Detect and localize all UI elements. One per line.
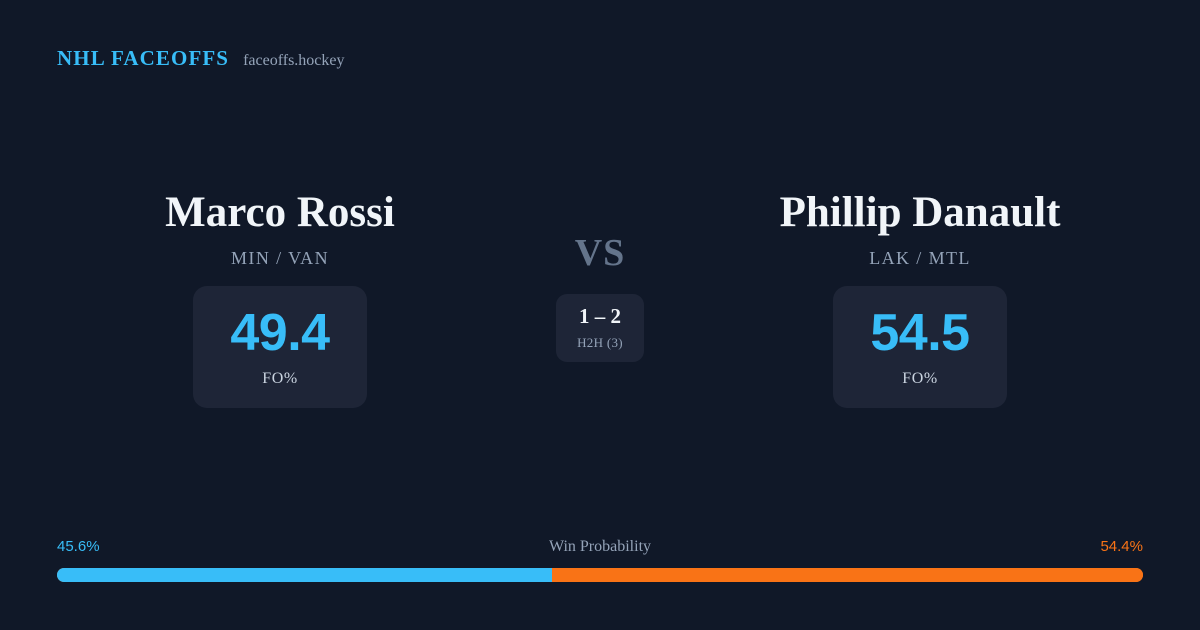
brand-header: NHL FACEOFFS faceoffs.hockey [57, 46, 345, 71]
win-probability-header: 45.6% Win Probability 54.4% [57, 538, 1143, 558]
player-teams-left: MIN / VAN [231, 248, 329, 269]
win-probability-right-value: 54.4% [1100, 538, 1143, 555]
player-card-right: Phillip Danault LAK / MTL 54.5 FO% [690, 190, 1150, 408]
head-to-head-label: H2H (3) [577, 335, 623, 351]
player-name-left: Marco Rossi [165, 190, 395, 236]
stat-value-right: 54.5 [870, 307, 969, 359]
win-probability-bar [57, 568, 1143, 582]
head-to-head-box: 1 – 2 H2H (3) [556, 294, 644, 362]
matchup-row: Marco Rossi MIN / VAN 49.4 FO% VS 1 – 2 … [0, 190, 1200, 408]
stat-label-right: FO% [902, 370, 938, 388]
player-name-right: Phillip Danault [780, 190, 1061, 236]
stat-value-left: 49.4 [230, 307, 329, 359]
player-teams-right: LAK / MTL [869, 248, 971, 269]
stat-label-left: FO% [262, 370, 298, 388]
win-probability-bar-left-segment [57, 568, 552, 582]
win-probability-label: Win Probability [549, 538, 651, 556]
head-to-head-score: 1 – 2 [579, 306, 621, 327]
win-probability-bar-right-segment [552, 568, 1143, 582]
brand-domain: faceoffs.hockey [243, 52, 344, 70]
stat-card-right: 54.5 FO% [833, 286, 1007, 408]
win-probability-left-value: 45.6% [57, 538, 100, 555]
stat-card-left: 49.4 FO% [193, 286, 367, 408]
versus-label: VS [575, 234, 626, 272]
brand-title: NHL FACEOFFS [57, 46, 229, 71]
win-probability-section: 45.6% Win Probability 54.4% [57, 538, 1143, 582]
versus-column: VS 1 – 2 H2H (3) [510, 190, 690, 362]
player-card-left: Marco Rossi MIN / VAN 49.4 FO% [50, 190, 510, 408]
